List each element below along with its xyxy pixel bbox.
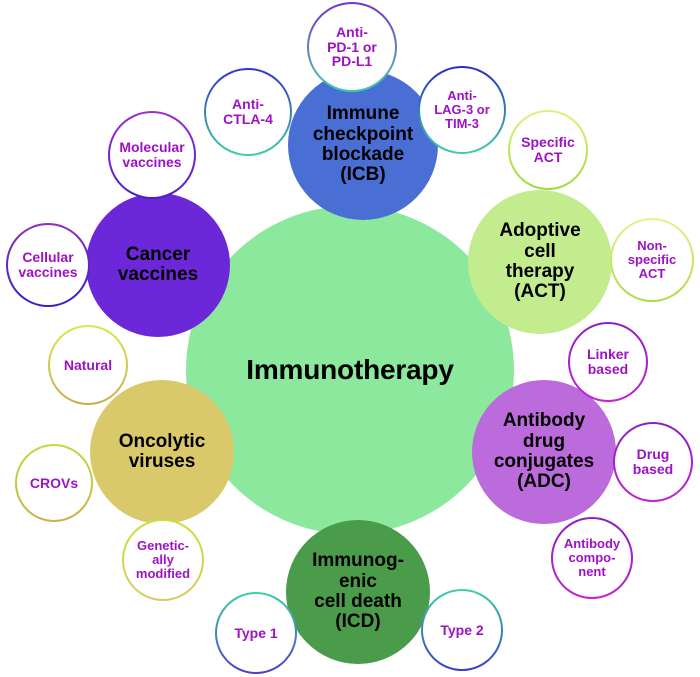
primary-node-adc[interactable]: Antibody drug conjugates (ADC) — [472, 380, 616, 524]
satellite-node-label: Type 1 — [232, 626, 279, 641]
primary-node-label: Antibody drug conjugates (ADC) — [492, 411, 596, 492]
satellite-node-cellular-vaccines[interactable]: Cellular vaccines — [6, 223, 90, 307]
satellite-node-anti-pd1[interactable]: Anti- PD-1 or PD-L1 — [307, 2, 397, 92]
primary-node-label: Adoptive cell therapy (ACT) — [497, 221, 582, 302]
satellite-node-specific-act[interactable]: Specific ACT — [508, 110, 588, 190]
satellite-node-nonspecific-act[interactable]: Non- specific ACT — [610, 218, 694, 302]
satellite-node-label: Anti- CTLA-4 — [221, 97, 275, 127]
satellite-node-label: Cellular vaccines — [16, 250, 79, 280]
primary-node-oncolytic[interactable]: Oncolytic viruses — [90, 380, 234, 524]
primary-node-label: Cancer vaccines — [116, 245, 200, 286]
hub-immunotherapy[interactable]: Immunotherapy — [186, 206, 514, 534]
satellite-node-label: Drug based — [631, 447, 675, 477]
primary-node-vaccines[interactable]: Cancer vaccines — [86, 193, 230, 337]
satellite-node-label: Natural — [62, 358, 114, 373]
primary-node-label: Immune checkpoint blockade (ICB) — [311, 104, 415, 185]
satellite-node-anti-ctla4[interactable]: Anti- CTLA-4 — [204, 68, 292, 156]
satellite-node-label: Anti- LAG-3 or TIM-3 — [432, 89, 492, 131]
satellite-node-label: Genetic- ally modified — [134, 539, 192, 581]
satellite-node-label: Non- specific ACT — [626, 239, 678, 281]
primary-node-label: Oncolytic viruses — [117, 432, 208, 473]
primary-node-label: Immunog- enic cell death (ICD) — [310, 551, 406, 632]
satellite-node-label: Molecular vaccines — [117, 140, 186, 170]
primary-node-icd[interactable]: Immunog- enic cell death (ICD) — [286, 520, 430, 664]
satellite-node-label: Type 2 — [438, 623, 485, 638]
satellite-node-label: Specific ACT — [519, 135, 577, 165]
satellite-node-label: Anti- PD-1 or PD-L1 — [325, 25, 379, 70]
satellite-node-linker-based[interactable]: Linker based — [568, 322, 648, 402]
satellite-node-natural[interactable]: Natural — [48, 325, 128, 405]
satellite-node-anti-lag3[interactable]: Anti- LAG-3 or TIM-3 — [418, 66, 506, 154]
satellite-node-label: Antibody compo- nent — [562, 537, 622, 579]
satellite-node-crovs[interactable]: CROVs — [15, 444, 93, 522]
hub-label: Immunotherapy — [244, 355, 455, 385]
satellite-node-label: Linker based — [585, 347, 631, 377]
satellite-node-label: CROVs — [28, 476, 80, 491]
primary-node-icb[interactable]: Immune checkpoint blockade (ICB) — [288, 70, 438, 220]
immunotherapy-diagram: Immunotherapy Immune checkpoint blockade… — [0, 0, 700, 677]
satellite-node-molecular-vaccines[interactable]: Molecular vaccines — [108, 111, 196, 199]
primary-node-act[interactable]: Adoptive cell therapy (ACT) — [468, 190, 612, 334]
satellite-node-type-1[interactable]: Type 1 — [215, 592, 297, 674]
satellite-node-drug-based[interactable]: Drug based — [613, 422, 693, 502]
satellite-node-antibody-component[interactable]: Antibody compo- nent — [551, 517, 633, 599]
satellite-node-type-2[interactable]: Type 2 — [421, 589, 503, 671]
satellite-node-genetically-modified[interactable]: Genetic- ally modified — [122, 519, 204, 601]
